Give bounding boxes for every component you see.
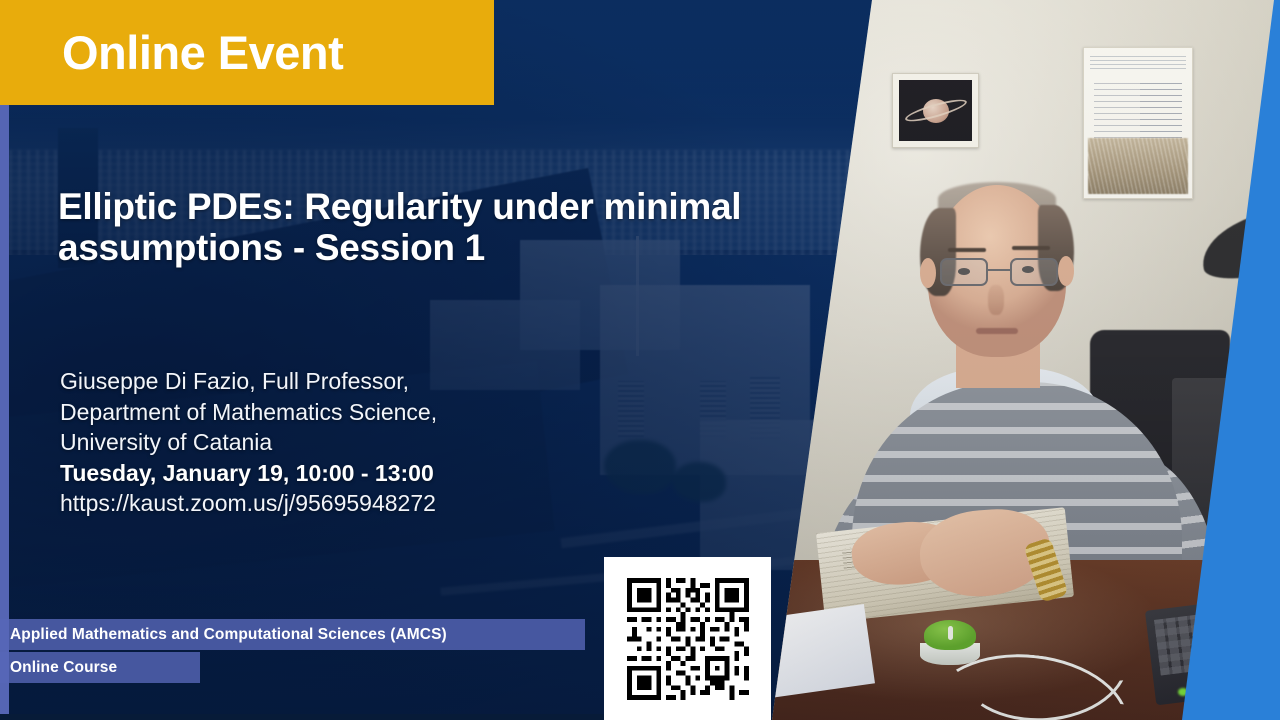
zoom-join-link[interactable]: https://kaust.zoom.us/j/95695948272 bbox=[60, 488, 660, 519]
program-tag: Applied Mathematics and Computational Sc… bbox=[0, 619, 585, 650]
speaker-institution: University of Catania bbox=[60, 427, 660, 458]
speaker-department: Department of Mathematics Science, bbox=[60, 397, 660, 428]
event-title: Elliptic PDEs: Regularity under minimal … bbox=[58, 187, 748, 268]
event-announcement-slide: Online Event Elliptic PDEs: Regularity u… bbox=[0, 0, 1280, 720]
program-tag-label: Applied Mathematics and Computational Sc… bbox=[10, 626, 447, 644]
bottom-edge-bar bbox=[0, 714, 604, 720]
event-datetime: Tuesday, January 19, 10:00 - 13:00 bbox=[60, 458, 660, 489]
online-event-banner-label: Online Event bbox=[0, 29, 343, 76]
qr-code-card[interactable] bbox=[604, 557, 771, 720]
format-tag-label: Online Course bbox=[10, 659, 117, 677]
event-details: Giuseppe Di Fazio, Full Professor, Depar… bbox=[60, 366, 660, 519]
qr-code[interactable] bbox=[627, 578, 749, 700]
online-event-banner: Online Event bbox=[0, 0, 494, 105]
format-tag: Online Course bbox=[0, 652, 200, 683]
speaker-name-role: Giuseppe Di Fazio, Full Professor, bbox=[60, 366, 660, 397]
